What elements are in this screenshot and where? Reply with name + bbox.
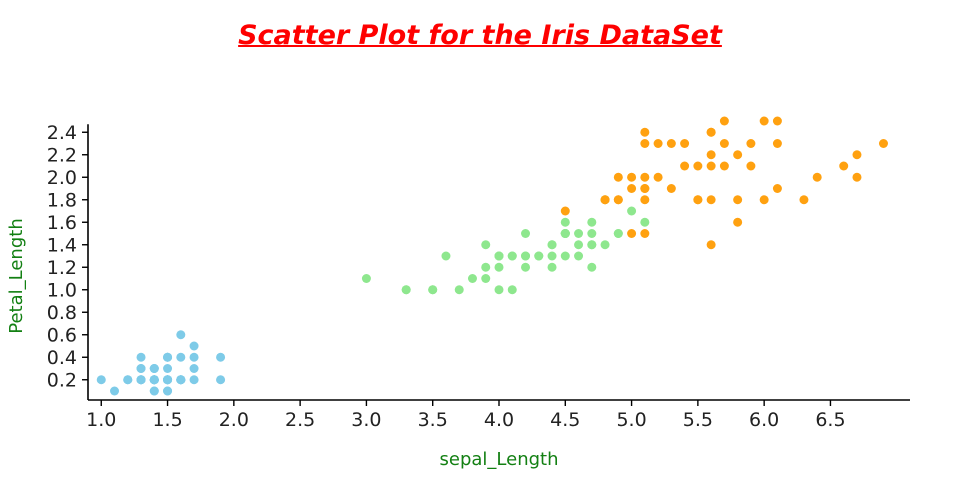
data-point bbox=[627, 207, 636, 216]
x-tick-label: 1.5 bbox=[152, 409, 182, 431]
data-point bbox=[799, 195, 808, 204]
y-tick-label: 1.2 bbox=[47, 257, 77, 279]
data-point bbox=[707, 162, 716, 171]
data-point bbox=[707, 150, 716, 159]
data-point bbox=[760, 117, 769, 126]
data-point bbox=[495, 263, 504, 272]
data-point bbox=[150, 375, 159, 384]
x-tick-label: 5.0 bbox=[616, 409, 646, 431]
data-point bbox=[680, 162, 689, 171]
data-point bbox=[521, 229, 530, 238]
data-points-layer bbox=[97, 117, 888, 396]
data-point bbox=[720, 139, 729, 148]
data-point bbox=[508, 285, 517, 294]
data-point bbox=[574, 229, 583, 238]
data-point bbox=[163, 387, 172, 396]
data-point bbox=[521, 252, 530, 261]
y-axis-label: Petal_Length bbox=[6, 218, 27, 333]
data-point bbox=[640, 173, 649, 182]
data-point bbox=[693, 195, 702, 204]
data-point bbox=[137, 364, 146, 373]
y-tick-label: 1.6 bbox=[47, 212, 77, 234]
data-point bbox=[654, 139, 663, 148]
data-point bbox=[773, 117, 782, 126]
data-point bbox=[614, 229, 623, 238]
data-point bbox=[680, 139, 689, 148]
y-tick-label: 0.8 bbox=[47, 302, 77, 324]
data-point bbox=[693, 162, 702, 171]
data-point bbox=[667, 139, 676, 148]
data-point bbox=[627, 229, 636, 238]
data-point bbox=[733, 150, 742, 159]
data-point bbox=[720, 162, 729, 171]
data-point bbox=[707, 240, 716, 249]
data-point bbox=[640, 218, 649, 227]
data-point bbox=[813, 173, 822, 182]
data-point bbox=[163, 353, 172, 362]
data-point bbox=[627, 184, 636, 193]
data-point bbox=[852, 150, 861, 159]
data-point bbox=[561, 207, 570, 216]
y-tick-label: 2.4 bbox=[47, 122, 77, 144]
scatter-plot-canvas: 0.20.40.60.81.01.21.41.61.82.02.22.41.01… bbox=[0, 0, 960, 500]
data-point bbox=[640, 184, 649, 193]
data-point bbox=[362, 274, 371, 283]
data-point bbox=[150, 387, 159, 396]
data-point bbox=[455, 285, 464, 294]
x-tick-label: 6.0 bbox=[749, 409, 779, 431]
data-point bbox=[190, 364, 199, 373]
data-point bbox=[163, 364, 172, 373]
data-point bbox=[587, 240, 596, 249]
data-point bbox=[481, 274, 490, 283]
data-point bbox=[601, 195, 610, 204]
x-tick-label: 3.5 bbox=[418, 409, 448, 431]
y-tick-label: 1.0 bbox=[47, 279, 77, 301]
data-point bbox=[150, 364, 159, 373]
data-point bbox=[110, 387, 119, 396]
x-tick-label: 2.5 bbox=[285, 409, 315, 431]
y-tick-label: 0.2 bbox=[47, 369, 77, 391]
y-tick-label: 2.2 bbox=[47, 144, 77, 166]
x-axis-label: sepal_Length bbox=[440, 449, 559, 470]
data-point bbox=[163, 375, 172, 384]
data-point bbox=[614, 173, 623, 182]
data-point bbox=[561, 229, 570, 238]
axis-tick-labels-layer: 0.20.40.60.81.01.21.41.61.82.02.22.41.01… bbox=[6, 122, 846, 470]
y-tick-label: 1.8 bbox=[47, 189, 77, 211]
data-point bbox=[176, 375, 185, 384]
data-point bbox=[879, 139, 888, 148]
x-tick-label: 4.0 bbox=[484, 409, 514, 431]
data-point bbox=[733, 195, 742, 204]
data-point bbox=[495, 252, 504, 261]
data-point bbox=[481, 240, 490, 249]
data-point bbox=[561, 252, 570, 261]
data-point bbox=[760, 195, 769, 204]
data-point bbox=[190, 342, 199, 351]
y-tick-label: 2.0 bbox=[47, 167, 77, 189]
data-point bbox=[402, 285, 411, 294]
x-tick-label: 6.5 bbox=[815, 409, 845, 431]
data-point bbox=[548, 252, 557, 261]
data-point bbox=[707, 195, 716, 204]
data-point bbox=[720, 117, 729, 126]
data-point bbox=[601, 240, 610, 249]
data-point bbox=[614, 195, 623, 204]
x-tick-label: 3.0 bbox=[351, 409, 381, 431]
data-point bbox=[627, 173, 636, 182]
data-point bbox=[441, 252, 450, 261]
data-point bbox=[574, 240, 583, 249]
data-point bbox=[773, 139, 782, 148]
data-point bbox=[137, 375, 146, 384]
data-point bbox=[428, 285, 437, 294]
data-point bbox=[667, 184, 676, 193]
data-point bbox=[176, 353, 185, 362]
data-point bbox=[481, 263, 490, 272]
data-point bbox=[97, 375, 106, 384]
data-point bbox=[746, 162, 755, 171]
data-point bbox=[587, 218, 596, 227]
data-point bbox=[548, 240, 557, 249]
x-tick-label: 5.5 bbox=[683, 409, 713, 431]
data-point bbox=[521, 263, 530, 272]
data-point bbox=[176, 330, 185, 339]
x-tick-label: 1.0 bbox=[86, 409, 116, 431]
data-point bbox=[587, 263, 596, 272]
data-point bbox=[640, 139, 649, 148]
data-point bbox=[561, 218, 570, 227]
x-tick-label: 4.5 bbox=[550, 409, 580, 431]
data-point bbox=[839, 162, 848, 171]
data-point bbox=[574, 252, 583, 261]
data-point bbox=[587, 229, 596, 238]
data-point bbox=[137, 353, 146, 362]
data-point bbox=[733, 218, 742, 227]
y-tick-label: 0.4 bbox=[47, 347, 77, 369]
data-point bbox=[640, 229, 649, 238]
x-tick-label: 2.0 bbox=[219, 409, 249, 431]
data-point bbox=[123, 375, 132, 384]
data-point bbox=[640, 195, 649, 204]
y-tick-label: 0.6 bbox=[47, 324, 77, 346]
chart-figure: Scatter Plot for the Iris DataSet 0.20.4… bbox=[0, 0, 960, 500]
data-point bbox=[468, 274, 477, 283]
data-point bbox=[495, 285, 504, 294]
data-point bbox=[190, 353, 199, 362]
data-point bbox=[534, 252, 543, 261]
data-point bbox=[216, 353, 225, 362]
data-point bbox=[773, 184, 782, 193]
data-point bbox=[548, 263, 557, 272]
data-point bbox=[654, 173, 663, 182]
data-point bbox=[852, 173, 861, 182]
data-point bbox=[707, 128, 716, 137]
data-point bbox=[216, 375, 225, 384]
data-point bbox=[508, 252, 517, 261]
data-point bbox=[746, 139, 755, 148]
y-tick-label: 1.4 bbox=[47, 234, 77, 256]
data-point bbox=[640, 128, 649, 137]
data-point bbox=[190, 375, 199, 384]
